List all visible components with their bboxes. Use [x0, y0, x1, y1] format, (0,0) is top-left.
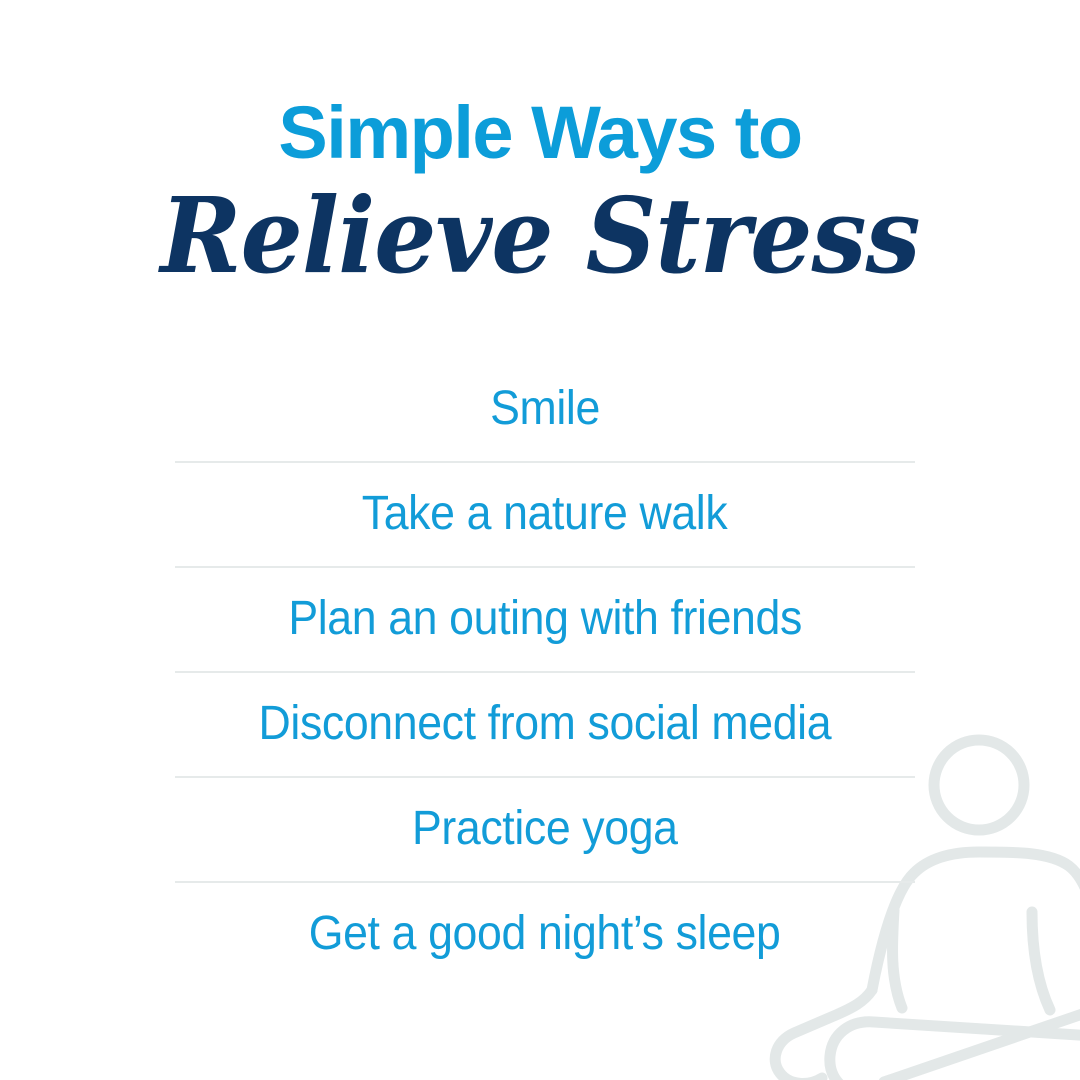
title-line-secondary: Relieve Stress — [32, 184, 1047, 288]
list-item-label: Take a nature walk — [362, 488, 728, 541]
list-item-label: Plan an outing with friends — [288, 593, 802, 646]
title-line-primary: Simple Ways to — [0, 96, 1080, 170]
list-item-label: Smile — [490, 383, 600, 436]
list-item: Get a good night’s sleep — [175, 883, 915, 986]
list-item: Disconnect from social media — [175, 673, 915, 778]
poster-canvas: Simple Ways to Relieve Stress Smile Take… — [0, 0, 1080, 1080]
list-item: Smile — [175, 358, 915, 463]
list-item: Practice yoga — [175, 778, 915, 883]
list-item-label: Disconnect from social media — [259, 698, 832, 751]
list-item: Take a nature walk — [175, 463, 915, 568]
stress-relief-tips-list: Smile Take a nature walk Plan an outing … — [175, 358, 915, 986]
page-title: Simple Ways to Relieve Stress — [0, 96, 1080, 288]
list-item: Plan an outing with friends — [175, 568, 915, 673]
list-item-label: Practice yoga — [412, 803, 678, 856]
list-item-label: Get a good night’s sleep — [309, 908, 781, 961]
